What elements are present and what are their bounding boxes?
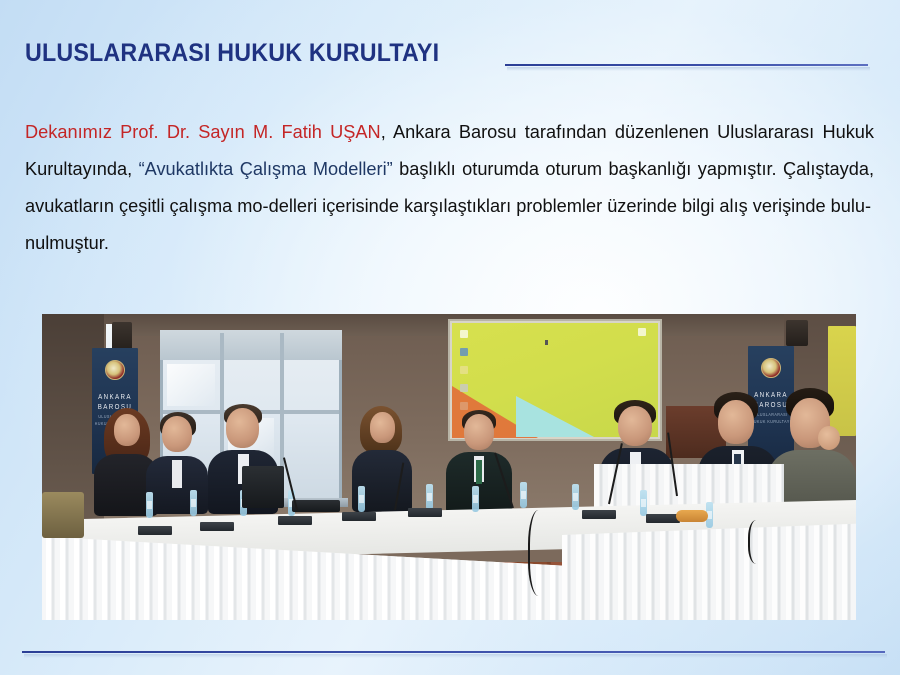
ankara-barosu-emblem-icon-right: [761, 358, 781, 378]
desktop-icon-3: [460, 366, 468, 374]
laptop: [242, 466, 284, 508]
conference-photo: ANKARA BAROSU ULUSLARARASI HUKUK KURULTA…: [42, 314, 856, 620]
water-bottle: [146, 492, 153, 518]
table-skirt-right: [562, 522, 856, 620]
head: [162, 416, 192, 452]
desktop-icon-6: [638, 328, 646, 336]
banquet-chair: [42, 492, 84, 538]
projected-cursor-icon: [545, 340, 548, 345]
desktop-icon-4: [460, 384, 468, 392]
body-paragraph: Dekanımız Prof. Dr. Sayın M. Fatih UŞAN,…: [25, 114, 874, 262]
water-bottle: [520, 482, 527, 508]
head: [370, 412, 395, 443]
page-title: ULUSLARARASI HUKUK KURULTAYI: [25, 38, 439, 68]
head: [226, 408, 259, 448]
slide-canvas: ULUSLARARASI HUKUK KURULTAYI Dekanımız P…: [0, 0, 900, 675]
water-bottle: [472, 486, 479, 512]
water-bottle: [572, 484, 579, 510]
banner-left-line1: ANKARA: [92, 393, 138, 401]
title-bar: ULUSLARARASI HUKUK KURULTAYI: [0, 38, 900, 72]
head: [114, 414, 140, 446]
name-plate: [342, 512, 376, 521]
desktop-icon-2: [460, 348, 468, 356]
highlighted-dean-name: Dekanımız Prof. Dr. Sayın M. Fatih UŞAN: [25, 122, 381, 142]
projection-shape-cyan: [516, 396, 594, 437]
photo-image: ANKARA BAROSU ULUSLARARASI HUKUK KURULTA…: [42, 314, 856, 620]
quoted-session-topic: “Avukatlıkta Çalışma Modelleri”: [139, 159, 393, 179]
window-glare-1: [167, 364, 215, 406]
laptop-base: [292, 500, 340, 512]
desktop-icon-1: [460, 330, 468, 338]
name-plate: [200, 522, 234, 531]
desktop-icon-5: [460, 402, 468, 410]
window-valance: [160, 330, 342, 360]
head: [718, 400, 754, 444]
name-plate: [582, 510, 616, 519]
shirt: [172, 460, 182, 488]
title-underline-rule: [505, 64, 868, 66]
water-bottle: [426, 484, 433, 510]
head: [618, 406, 652, 446]
banner-far-right: [828, 326, 856, 436]
snack-plate: [676, 510, 708, 522]
body-last-line: nulmuştur.: [25, 225, 874, 262]
head: [464, 414, 494, 450]
bottom-divider-rule: [22, 651, 885, 653]
name-plate: [408, 508, 442, 517]
water-bottle: [640, 490, 647, 516]
name-plate: [138, 526, 172, 535]
banner-right-line4: HUKUK KURULTAYI: [748, 420, 794, 425]
necktie: [476, 460, 482, 484]
wall-speaker-right: [786, 320, 808, 346]
name-plate: [646, 514, 680, 523]
hand: [818, 426, 840, 450]
bottom-divider-shadow: [24, 654, 887, 658]
water-bottle: [190, 490, 197, 516]
name-plate: [278, 516, 312, 525]
title-underline-shadow: [507, 67, 870, 71]
water-bottle: [358, 486, 365, 512]
ankara-barosu-emblem-icon-left: [105, 360, 125, 380]
cable: [748, 520, 768, 564]
cable: [528, 510, 554, 596]
